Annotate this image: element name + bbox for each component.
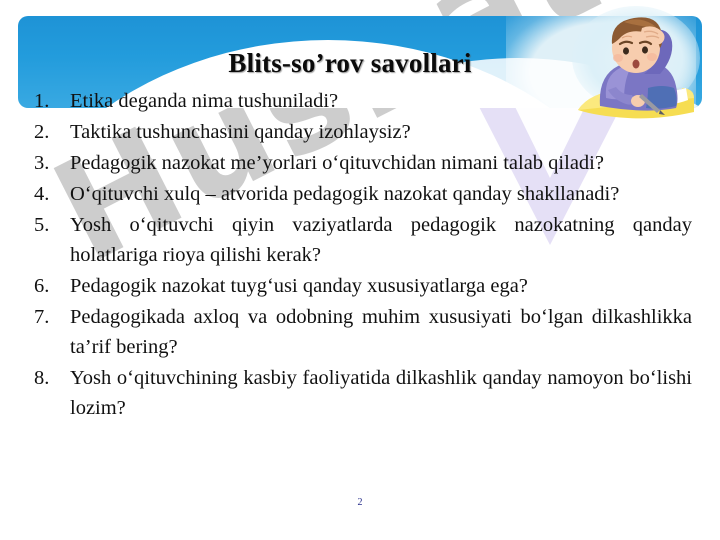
list-item-text: Pedagogikada axloq va odobning muhim xus… — [70, 302, 696, 362]
list-item-number: 5. — [28, 210, 70, 240]
list-item-number: 1. — [28, 86, 70, 116]
list-item-number: 7. — [28, 302, 70, 332]
question-list: 1. Etika deganda nima tushuniladi? 2. Ta… — [28, 86, 696, 424]
page-title: Blits-so’rov savollari — [0, 48, 700, 79]
list-item: 7. Pedagogikada axloq va odobning muhim … — [28, 302, 696, 362]
list-item-text: Yosh o‘qituvchi qiyin vaziyatlarda pedag… — [70, 210, 696, 270]
list-item-text: Pedagogik nazokat me’yorlari o‘qituvchid… — [70, 148, 696, 178]
list-item: 5. Yosh o‘qituvchi qiyin vaziyatlarda pe… — [28, 210, 696, 270]
list-item-text: Etika deganda nima tushuniladi? — [70, 86, 696, 116]
list-item: 2. Taktika tushunchasini qanday izohlays… — [28, 117, 696, 147]
list-item-number: 6. — [28, 271, 70, 301]
list-item-number: 2. — [28, 117, 70, 147]
list-item: 8. Yosh o‘qituvchining kasbiy faoliyatid… — [28, 363, 696, 423]
list-item: 3. Pedagogik nazokat me’yorlari o‘qituvc… — [28, 148, 696, 178]
list-item: 1. Etika deganda nima tushuniladi? — [28, 86, 696, 116]
list-item-number: 8. — [28, 363, 70, 393]
list-item-number: 4. — [28, 179, 70, 209]
list-item: 4. O‘qituvchi xulq – atvorida pedagogik … — [28, 179, 696, 209]
list-item: 6. Pedagogik nazokat tuyg‘usi qanday xus… — [28, 271, 696, 301]
list-item-number: 3. — [28, 148, 70, 178]
slide-canvas: Husnat — [0, 0, 720, 540]
list-item-text: Taktika tushunchasini qanday izohlaysiz? — [70, 117, 696, 147]
list-item-text: Yosh o‘qituvchining kasbiy faoliyatida d… — [70, 363, 696, 423]
list-item-text: Pedagogik nazokat tuyg‘usi qanday xususi… — [70, 271, 696, 301]
list-item-text: O‘qituvchi xulq – atvorida pedagogik naz… — [70, 179, 696, 209]
page-number: 2 — [0, 497, 720, 508]
